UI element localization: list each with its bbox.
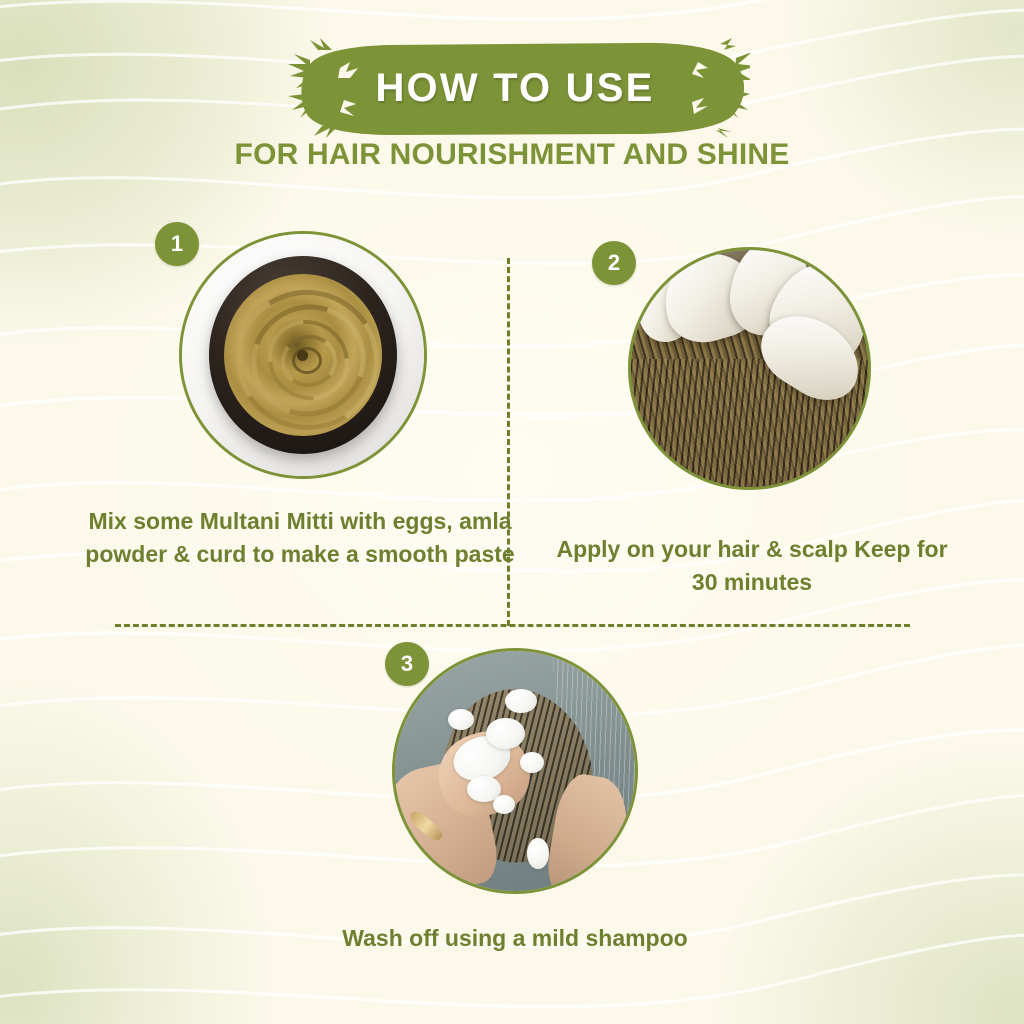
step-2-caption: Apply on your hair & scalp Keep for 30 m… [542, 533, 962, 598]
shampoo-suds [493, 795, 515, 814]
shampoo-suds [505, 689, 536, 713]
bowl-of-multani-mitti-paste-photo [182, 234, 424, 476]
step-3-caption: Wash off using a mild shampoo [325, 922, 705, 955]
shampoo-suds [448, 709, 474, 731]
shampoo-suds [520, 752, 544, 774]
step-1-image [179, 231, 427, 479]
page-subtitle: FOR HAIR NOURISHMENT AND SHINE [0, 138, 1024, 172]
page-title: HOW TO USE [280, 38, 750, 138]
step-3-image [392, 648, 638, 894]
vertical-dashed-divider [507, 258, 510, 626]
gloved-hands-applying-paste-to-hair-photo [631, 250, 868, 487]
shampoo-suds [486, 718, 524, 749]
step-2-image [628, 247, 871, 490]
paste-surface [224, 274, 383, 437]
dark-bowl [209, 256, 398, 454]
step-1-caption: Mix some Multani Mitti with eggs, amla p… [72, 505, 528, 570]
step-1-number-badge: 1 [155, 222, 199, 266]
how-to-use-infographic: HOW TO USE FOR HAIR NOURISHMENT AND SHIN… [0, 0, 1024, 1024]
paste-swirl [292, 347, 322, 374]
step-2-number-badge: 2 [592, 241, 636, 285]
step-3-number-badge: 3 [385, 642, 429, 686]
washing-hair-with-shampoo-photo [395, 651, 635, 891]
shampoo-suds [527, 838, 549, 869]
horizontal-dashed-divider [115, 624, 910, 627]
